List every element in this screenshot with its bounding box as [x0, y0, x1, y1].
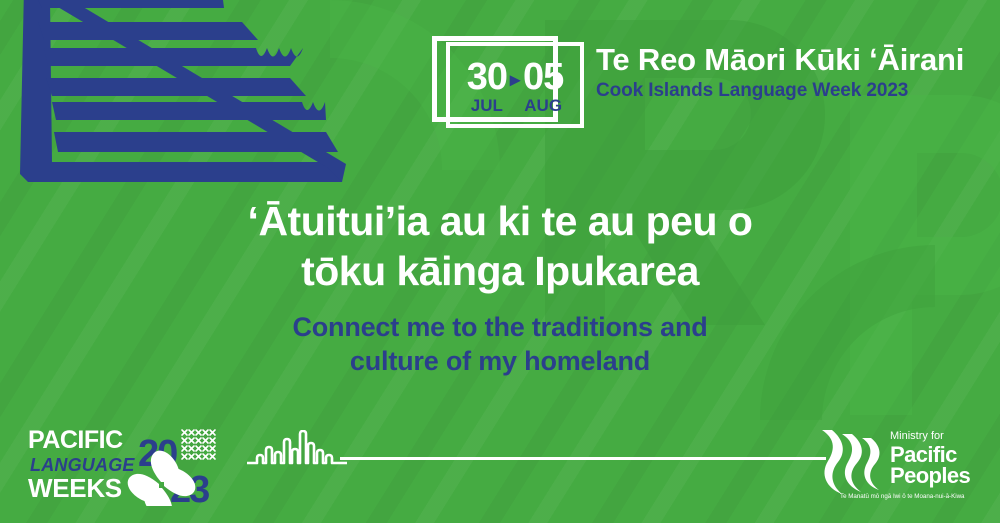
mpp-koru-wave-icon	[822, 430, 880, 494]
date-start: 30 JUL	[467, 58, 507, 114]
date-start-month: JUL	[471, 97, 503, 114]
headline-line-2: tōku kāinga Ipukarea	[0, 246, 1000, 296]
tapa-motif-decoration	[0, 0, 350, 196]
date-range-arrow-icon: ▸	[509, 70, 521, 90]
plw-x-grid-pattern	[182, 430, 215, 459]
plw-line-weeks: WEEKS	[28, 473, 122, 503]
plw-line-pacific: PACIFIC	[28, 426, 123, 454]
date-end-day: 05	[523, 58, 563, 96]
mpp-tagline: Te Manatū mō ngā Iwi ō te Moana-nui-ā-Ki…	[840, 493, 965, 500]
headline-maori: ʻĀtuitui’ia au ki te au peu o tōku kāing…	[0, 196, 1000, 296]
date-end-month: AUG	[524, 97, 562, 114]
subhead-line-2: culture of my homeland	[0, 344, 1000, 378]
mpp-line-ministry-for: Ministry for	[890, 430, 944, 442]
date-badge: 30 JUL ▸ 05 AUG	[432, 36, 584, 124]
headline-line-1: ʻĀtuitui’ia au ki te au peu o	[0, 196, 1000, 246]
event-date-header: 30 JUL ▸ 05 AUG	[432, 36, 584, 124]
headline-english-translation: Connect me to the traditions and culture…	[0, 310, 1000, 378]
date-badge-front-frame: 30 JUL ▸ 05 AUG	[446, 42, 584, 128]
audio-waveform-icon	[247, 430, 347, 490]
plw-line-language: LANGUAGE	[30, 455, 135, 475]
subhead-line-1: Connect me to the traditions and	[0, 310, 1000, 344]
date-end: 05 AUG	[523, 58, 563, 114]
mpp-line-peoples: Peoples	[890, 463, 971, 488]
footer-divider-rule	[340, 457, 826, 460]
event-title-maori: Te Reo Māori Kūki ʻĀirani	[596, 44, 964, 77]
pacific-language-weeks-logo: PACIFIC LANGUAGE WEEKS 20 23	[28, 424, 233, 506]
event-title-english: Cook Islands Language Week 2023	[596, 81, 964, 102]
ministry-for-pacific-peoples-logo: Ministry for Pacific Peoples Te Manatū m…	[818, 424, 988, 506]
poster-canvas: 30 JUL ▸ 05 AUG Te Reo Māori Kūki ʻĀiran…	[0, 0, 1000, 523]
event-title-block: Te Reo Māori Kūki ʻĀirani Cook Islands L…	[596, 44, 964, 102]
date-start-day: 30	[467, 58, 507, 96]
